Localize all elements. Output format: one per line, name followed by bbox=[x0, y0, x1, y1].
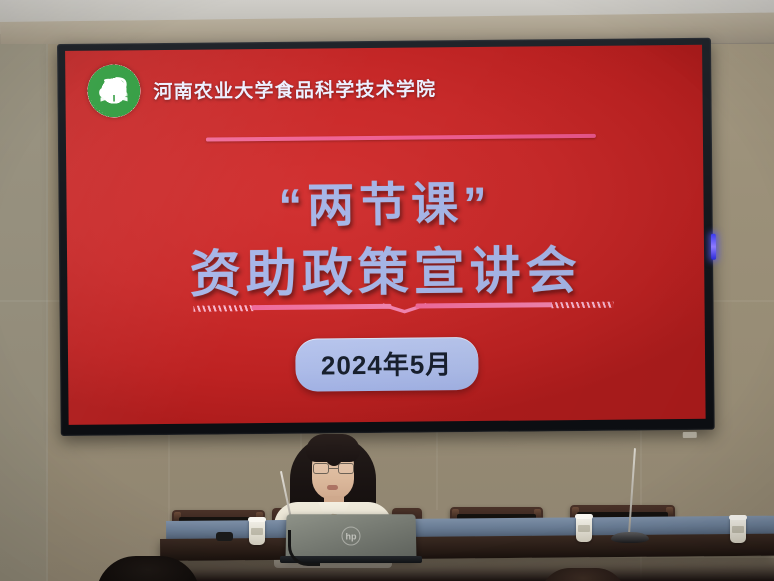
desk-device bbox=[216, 532, 233, 541]
eyeglass-lens bbox=[338, 463, 354, 474]
microphone-base bbox=[611, 532, 649, 543]
presenter-mouth bbox=[327, 485, 338, 490]
presenter-fringe bbox=[306, 434, 360, 462]
eyeglass-bridge bbox=[329, 468, 338, 469]
eyeglasses-icon bbox=[313, 463, 354, 474]
eyeglass-lens bbox=[313, 463, 329, 474]
paper-cup bbox=[730, 517, 746, 543]
foreground-furniture: hp bbox=[0, 0, 774, 581]
conference-table-front bbox=[150, 558, 774, 581]
paper-cup bbox=[576, 516, 592, 542]
room-photo-scene: 河南农业大学食品科学技术学院 “两节课” 资助政策宣讲会 2024年5月 bbox=[0, 0, 774, 581]
paper-cup bbox=[249, 519, 265, 545]
hp-logo-icon: hp bbox=[341, 527, 360, 546]
